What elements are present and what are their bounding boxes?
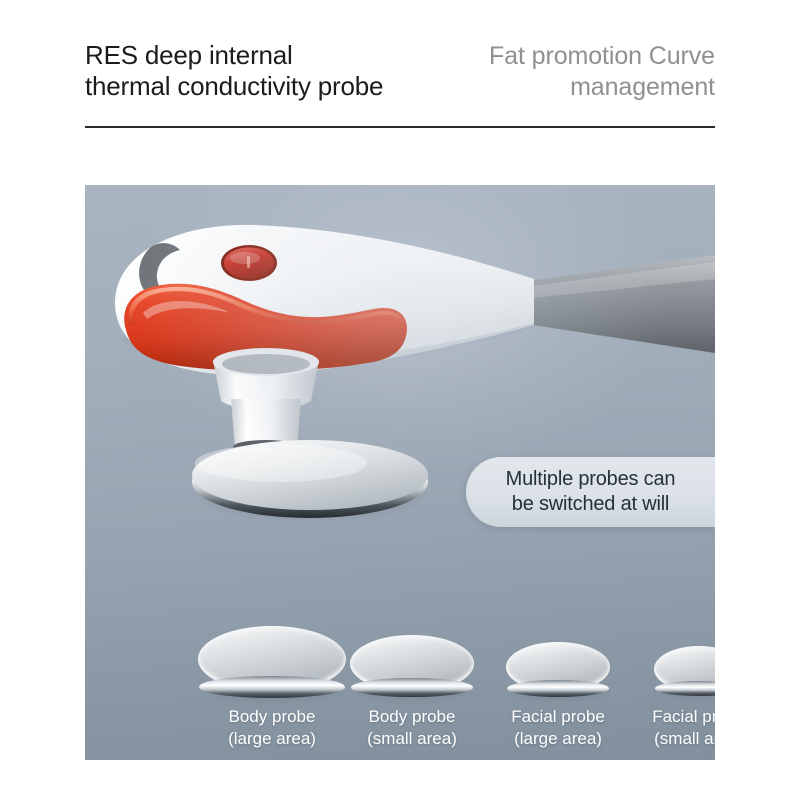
probe-label-facial-probe-large: Facial probe (large area) bbox=[491, 706, 625, 750]
device-body bbox=[115, 225, 534, 375]
neck-cup-inner bbox=[222, 354, 310, 374]
base-disc-sheen bbox=[195, 444, 367, 482]
probe-disc-rim bbox=[351, 678, 473, 697]
header-divider bbox=[85, 126, 715, 128]
probe-item-body-probe-small[interactable]: Body probe (small area) bbox=[350, 635, 474, 750]
neck-cylinder bbox=[231, 399, 301, 449]
power-button-outline bbox=[221, 245, 277, 281]
probe-disc-row: Body probe (large area) Body probe (smal… bbox=[85, 545, 715, 750]
base-disc-rim bbox=[192, 446, 428, 518]
callout-banner: Multiple probes can be switched at will bbox=[466, 457, 715, 527]
page-subtitle-line-2: management bbox=[415, 72, 715, 103]
probe-label-body-probe-large: Body probe (large area) bbox=[198, 706, 346, 750]
probe-disc-rim bbox=[507, 680, 609, 697]
base-disc-top bbox=[192, 440, 428, 510]
callout-line-1: Multiple probes can bbox=[506, 467, 676, 492]
probe-label-line-2: (small area) bbox=[350, 728, 474, 750]
probe-disc-body-probe-small bbox=[350, 635, 474, 692]
probe-label-facial-probe-small: Facial probe (small area) bbox=[632, 706, 715, 750]
power-button-highlight bbox=[230, 252, 260, 264]
cable-highlight bbox=[532, 262, 715, 298]
probe-disc-facial-probe-small bbox=[654, 646, 715, 692]
probe-label-line-1: Body probe bbox=[350, 706, 474, 728]
probe-label-line-2: (small area) bbox=[632, 728, 715, 750]
neck-cup-opening bbox=[213, 348, 319, 376]
probe-item-body-probe-large[interactable]: Body probe (large area) bbox=[198, 626, 346, 750]
probe-disc-body-probe-large bbox=[198, 626, 346, 692]
probe-disc-facial-probe-large bbox=[506, 642, 610, 692]
probe-item-facial-probe-small[interactable]: Facial probe (small area) bbox=[632, 646, 715, 750]
probe-label-line-1: Facial probe bbox=[491, 706, 625, 728]
probe-label-line-2: (large area) bbox=[491, 728, 625, 750]
probe-item-facial-probe-large[interactable]: Facial probe (large area) bbox=[491, 642, 625, 750]
device-cable bbox=[526, 255, 715, 353]
base-ground-shadow bbox=[190, 471, 430, 523]
accent-arc-icon bbox=[139, 243, 180, 301]
neck-flare-cup bbox=[213, 360, 319, 410]
device-grip-gloss bbox=[143, 301, 231, 319]
neck-chrome-collar bbox=[233, 447, 299, 477]
probe-label-body-probe-small: Body probe (small area) bbox=[350, 706, 474, 750]
callout-line-2: be switched at will bbox=[512, 492, 669, 517]
device-grip-band-rim bbox=[129, 287, 403, 328]
page-subtitle: Fat promotion Curve management bbox=[415, 41, 715, 103]
device-body-shading bbox=[123, 323, 534, 369]
page-header: RES deep internal thermal conductivity p… bbox=[85, 40, 715, 130]
product-photo-panel: Multiple probes can be switched at will … bbox=[85, 185, 715, 760]
power-button-glyph bbox=[247, 256, 250, 268]
probe-disc-rim bbox=[199, 676, 344, 698]
device-grip-band bbox=[124, 284, 407, 371]
power-button bbox=[224, 248, 274, 279]
page-subtitle-line-1: Fat promotion Curve bbox=[415, 41, 715, 72]
probe-label-line-1: Facial probe bbox=[632, 706, 715, 728]
probe-label-line-1: Body probe bbox=[198, 706, 346, 728]
neck-lower-stem bbox=[237, 475, 295, 505]
collar-top-edge bbox=[233, 440, 299, 454]
probe-label-line-2: (large area) bbox=[198, 728, 346, 750]
